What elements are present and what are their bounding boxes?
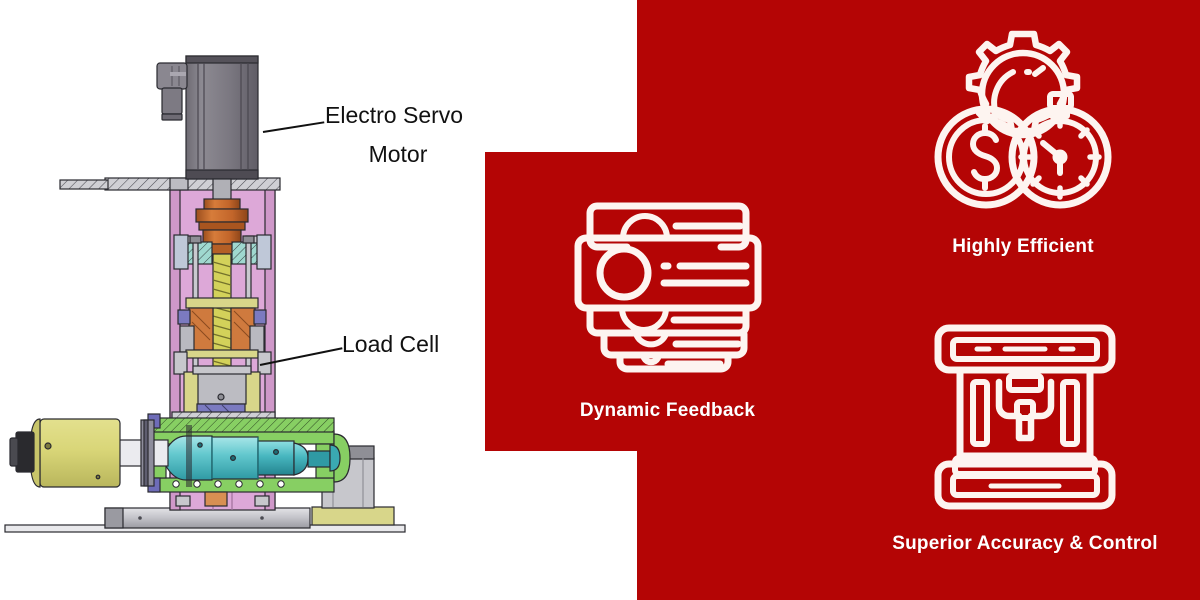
callout-load-cell: Load Cell (342, 329, 439, 359)
gear-dollar-stopwatch-icon (923, 22, 1123, 222)
callout-motor-line2: Motor (325, 135, 485, 174)
feature-dynamic-feedback-label: Dynamic Feedback (580, 400, 755, 422)
feature-superior-accuracy-control-label: Superior Accuracy & Control (892, 533, 1157, 555)
feature-superior-accuracy-control[interactable]: Superior Accuracy & Control (865, 316, 1185, 555)
press-machine-icon (927, 316, 1123, 521)
electro-servo-press-drawing (0, 0, 490, 600)
feature-highly-efficient-label: Highly Efficient (952, 236, 1094, 258)
servo-motor-body (186, 56, 258, 201)
infographic-canvas: Electro Servo Motor Load Cell (0, 0, 1200, 600)
side-motor (10, 419, 120, 487)
layered-data-cards-icon (568, 178, 768, 388)
base-plate (105, 508, 310, 528)
feature-dynamic-feedback[interactable]: Dynamic Feedback (540, 178, 795, 422)
motor-connector-box (157, 63, 187, 120)
callout-load-cell-line1: Load Cell (342, 329, 439, 359)
feature-highly-efficient[interactable]: Highly Efficient (912, 22, 1134, 258)
mounting-plate (60, 178, 280, 190)
callout-motor-line1: Electro Servo (325, 96, 485, 135)
callout-electro-servo-motor: Electro Servo Motor (325, 96, 485, 174)
